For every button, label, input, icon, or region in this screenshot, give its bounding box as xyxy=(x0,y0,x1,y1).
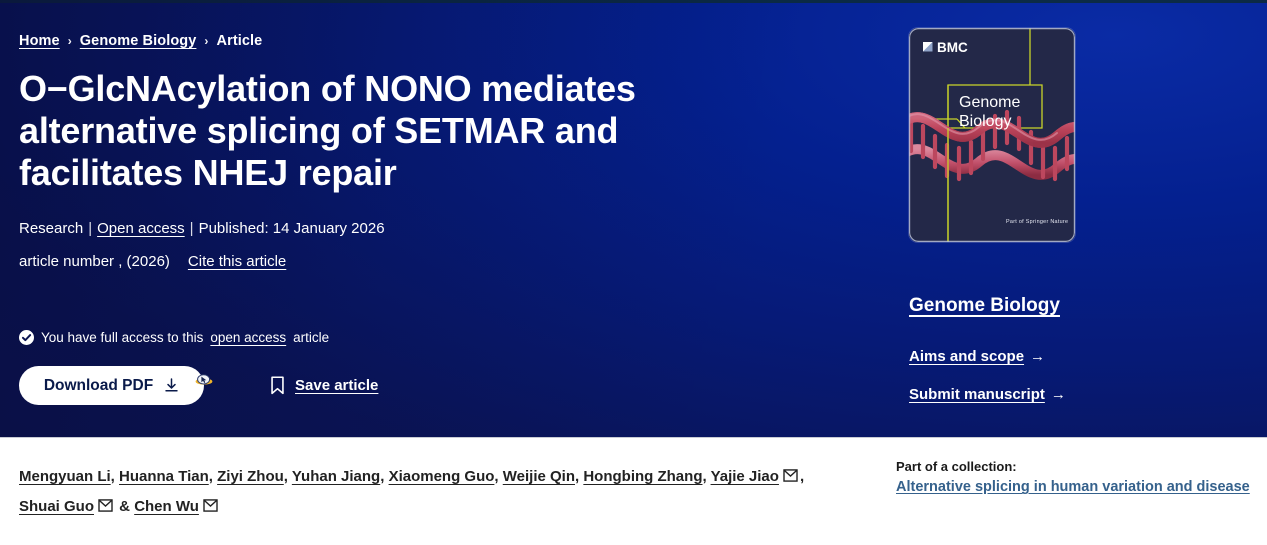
author-ampersand: & xyxy=(119,498,130,515)
author-separator: , xyxy=(380,468,384,485)
collection-link[interactable]: Alternative splicing in human variation … xyxy=(896,479,1250,495)
journal-cover-image: BMC xyxy=(909,28,1075,242)
breadcrumb: Home › Genome Biology › Article xyxy=(19,33,262,49)
author-link[interactable]: Huanna Tian xyxy=(119,468,209,485)
download-icon xyxy=(164,378,179,393)
collection-block: Part of a collection: Alternative splici… xyxy=(896,458,1256,497)
bookmark-icon xyxy=(270,376,285,395)
author-link[interactable]: Chen Wu xyxy=(134,498,199,515)
author-link[interactable]: Mengyuan Li xyxy=(19,468,111,485)
journal-title-link[interactable]: Genome Biology xyxy=(909,295,1060,317)
author-link[interactable]: Yajie Jiao xyxy=(711,468,779,485)
pointer-cursor-artifact xyxy=(194,370,214,390)
author-link[interactable]: Ziyi Zhou xyxy=(217,468,284,485)
envelope-icon[interactable] xyxy=(783,469,798,482)
author-link[interactable]: Shuai Guo xyxy=(19,498,94,515)
meta-separator: | xyxy=(185,220,199,237)
breadcrumb-item-home[interactable]: Home xyxy=(19,33,60,49)
author-list: Mengyuan Li, Huanna Tian, Ziyi Zhou, Yuh… xyxy=(19,462,829,522)
article-meta-line: Research|Open access|Published: 14 Janua… xyxy=(19,220,385,237)
cite-this-article-link[interactable]: Cite this article xyxy=(188,253,286,270)
top-edge-strip xyxy=(0,0,1267,3)
author-separator: , xyxy=(284,468,288,485)
envelope-icon[interactable] xyxy=(203,499,218,512)
download-pdf-label: Download PDF xyxy=(44,377,153,395)
aims-and-scope-label: Aims and scope xyxy=(909,348,1024,365)
access-notice-link[interactable]: open access xyxy=(210,330,286,345)
article-header-page: Home › Genome Biology › Article O−GlcNAc… xyxy=(0,0,1267,545)
lower-section: Mengyuan Li, Huanna Tian, Ziyi Zhou, Yuh… xyxy=(0,438,1267,545)
published-date: Published: 14 January 2026 xyxy=(199,220,385,237)
arrow-right-icon: → xyxy=(1051,386,1066,403)
breadcrumb-separator-icon: › xyxy=(68,34,72,48)
check-circle-icon xyxy=(19,330,34,345)
aims-and-scope-link[interactable]: Aims and scope→ xyxy=(909,348,1045,365)
author-separator: , xyxy=(209,468,213,485)
author-link[interactable]: Hongbing Zhang xyxy=(583,468,702,485)
arrow-right-icon: → xyxy=(1030,348,1045,365)
action-bar: Download PDF Save article xyxy=(19,366,378,405)
author-separator: , xyxy=(800,468,804,485)
access-notice-pre: You have full access to this xyxy=(41,330,203,345)
author-separator: , xyxy=(111,468,115,485)
breadcrumb-item-current: Article xyxy=(217,33,263,49)
breadcrumb-separator-icon: › xyxy=(204,34,208,48)
svg-text:Biology: Biology xyxy=(959,113,1011,130)
breadcrumb-item-journal[interactable]: Genome Biology xyxy=(80,33,197,49)
author-link[interactable]: Xiaomeng Guo xyxy=(389,468,495,485)
save-article-label: Save article xyxy=(295,377,378,394)
author-link[interactable]: Weijie Qin xyxy=(503,468,575,485)
access-notice: You have full access to this open access… xyxy=(19,330,329,345)
article-type: Research xyxy=(19,220,83,237)
envelope-icon[interactable] xyxy=(98,499,113,512)
submit-manuscript-link[interactable]: Submit manuscript→ xyxy=(909,386,1066,403)
journal-cover-link[interactable]: BMC xyxy=(909,28,1075,242)
author-separator: , xyxy=(575,468,579,485)
author-link[interactable]: Yuhan Jiang xyxy=(292,468,380,485)
page-title: O−GlcNAcylation of NONO mediates alterna… xyxy=(19,68,719,194)
article-number: article number , (2026) xyxy=(19,253,170,270)
meta-separator: | xyxy=(83,220,97,237)
download-pdf-button[interactable]: Download PDF xyxy=(19,366,204,405)
author-separator: , xyxy=(494,468,498,485)
submit-manuscript-label: Submit manuscript xyxy=(909,386,1045,403)
save-article-button[interactable]: Save article xyxy=(270,376,378,395)
open-access-link[interactable]: Open access xyxy=(97,220,185,237)
svg-text:BMC: BMC xyxy=(937,40,968,55)
citation-line: article number , (2026)Cite this article xyxy=(19,253,286,270)
svg-text:Genome: Genome xyxy=(959,94,1020,111)
collection-heading: Part of a collection: xyxy=(896,458,1256,476)
svg-text:Part of Springer Nature: Part of Springer Nature xyxy=(1006,219,1068,225)
author-separator: , xyxy=(702,468,706,485)
access-notice-post: article xyxy=(293,330,329,345)
